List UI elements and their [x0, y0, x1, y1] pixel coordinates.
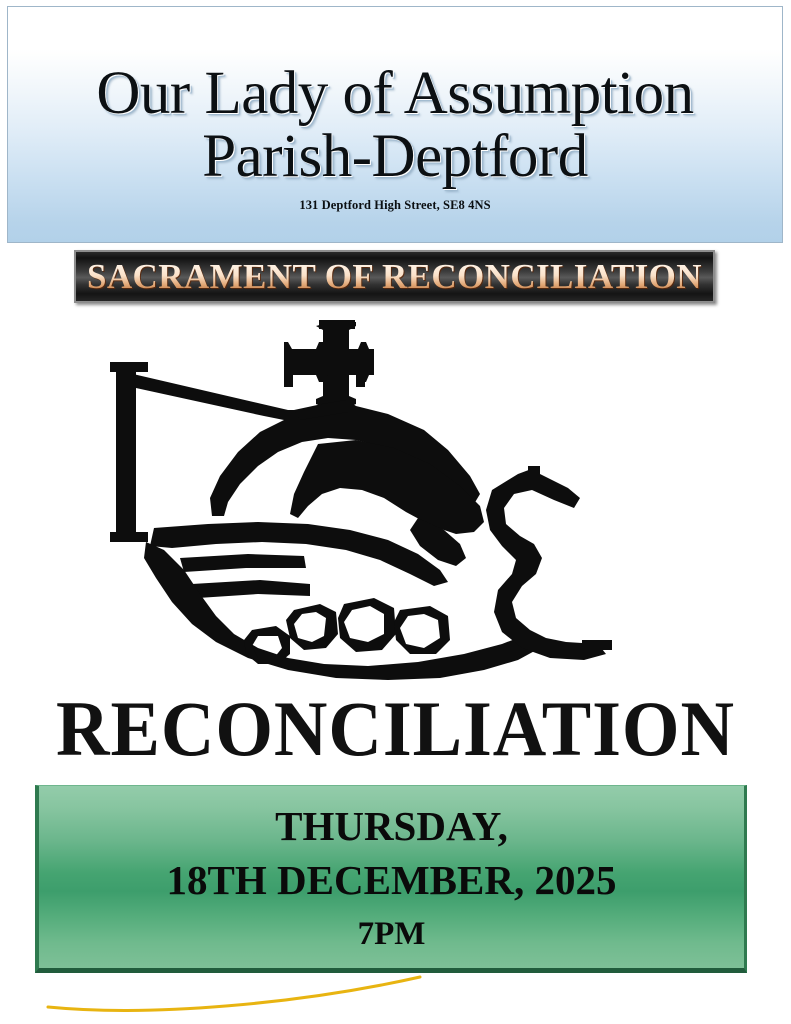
- sacrament-banner-label: SACRAMENT OF RECONCILIATION: [87, 257, 702, 297]
- clasped-hands-with-cross-icon: [88, 318, 648, 680]
- sacrament-banner: SACRAMENT OF RECONCILIATION: [74, 250, 715, 303]
- parish-title-line-2: Parish-Deptford: [202, 126, 588, 189]
- event-day-label: THURSDAY,: [275, 802, 508, 850]
- event-date-banner: THURSDAY, 18TH DECEMBER, 2025 7PM: [35, 785, 747, 973]
- hands-illustration: [110, 362, 612, 680]
- parish-title-line-1: Our Lady of Assumption: [96, 63, 693, 126]
- cross-icon: [284, 320, 374, 417]
- event-time-label: 7PM: [358, 915, 426, 954]
- reconciliation-wordmark: RECONCILIATION: [20, 684, 771, 774]
- parish-header: Our Lady of Assumption Parish-Deptford 1…: [7, 6, 783, 243]
- event-date-label: 18TH DECEMBER, 2025: [167, 856, 617, 904]
- parish-address: 131 Deptford High Street, SE8 4NS: [299, 198, 490, 213]
